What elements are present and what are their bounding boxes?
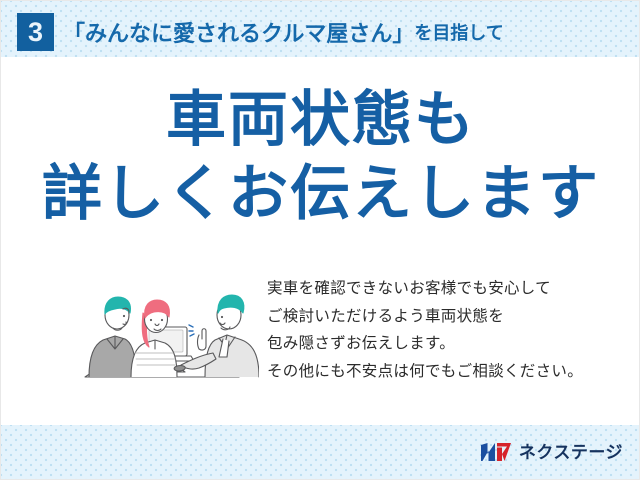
body-copy-line-2: ご検討いただけるよう車両状態を	[267, 303, 615, 331]
body-copy-line-4: その他にも不安点は何でもご相談ください。	[267, 358, 615, 386]
promo-banner: 3 「みんなに愛されるクルマ屋さん」 を目指して 車両状態も 詳しくお伝えします	[0, 0, 640, 480]
section-number-label: 3	[28, 19, 43, 46]
header-title-suffix: を目指して	[414, 19, 503, 45]
section-number-badge: 3	[17, 13, 54, 51]
body-copy-line-1: 実車を確認できないお客様でも安心して	[267, 275, 615, 303]
content-row: 実車を確認できないお客様でも安心して ご検討いただけるよう車両状態を 包み隠さず…	[1, 273, 640, 403]
body-copy-line-3: 包み隠さずお伝えします。	[267, 330, 615, 358]
body-copy: 実車を確認できないお客様でも安心して ご検討いただけるよう車両状態を 包み隠さず…	[267, 275, 615, 385]
brand-logo-text: ネクステージ	[519, 444, 623, 461]
brand-logo: ネクステージ	[480, 441, 623, 463]
hero-line-1: 車両状態も	[1, 89, 640, 151]
hero-headline: 車両状態も 詳しくお伝えします	[1, 89, 640, 226]
header-title: 「みんなに愛されるクルマ屋さん」 を目指して	[63, 14, 504, 50]
hero-line-2: 詳しくお伝えします	[1, 163, 640, 225]
header-title-quoted: 「みんなに愛されるクルマ屋さん」	[63, 16, 414, 48]
consultation-illustration	[63, 273, 259, 385]
nextage-n-mark-icon	[480, 441, 512, 463]
